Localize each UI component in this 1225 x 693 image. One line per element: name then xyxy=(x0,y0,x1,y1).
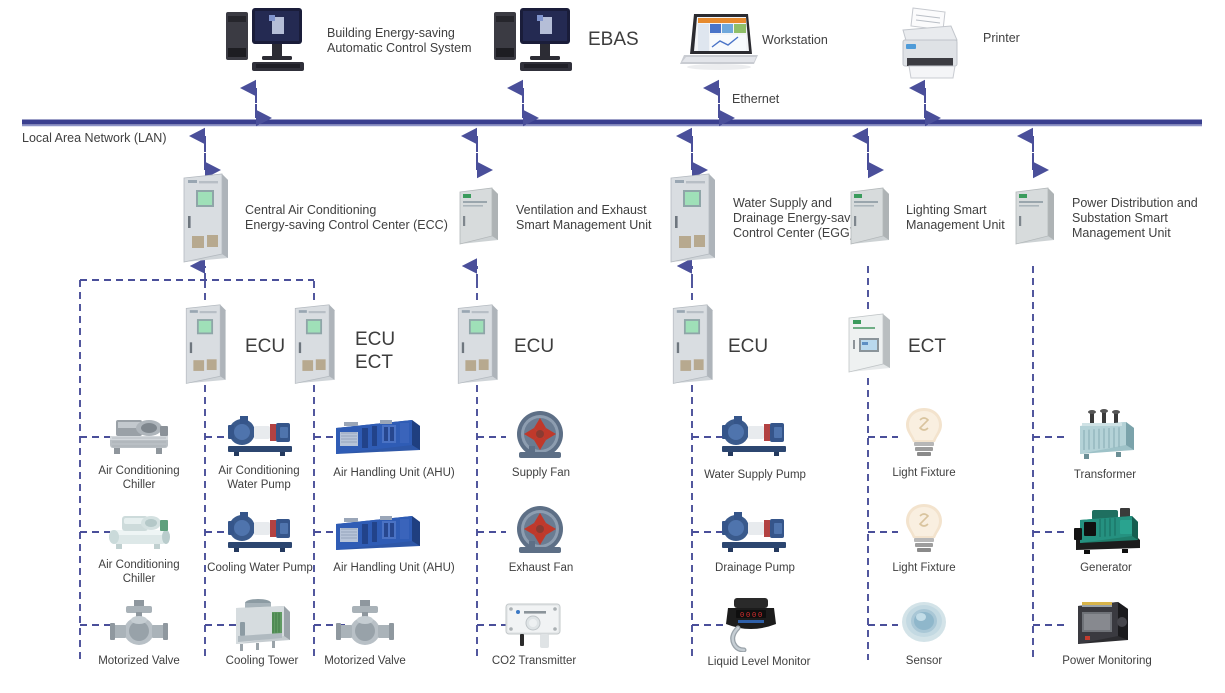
generator-label: Generator xyxy=(1052,561,1160,575)
light-fixture-2-label: Light Fixture xyxy=(876,561,972,575)
ecu-ventilation-label: ECU xyxy=(514,335,554,358)
pump-icon xyxy=(718,508,792,554)
air-handling-unit-1-label: Air Handling Unit (AHU) xyxy=(322,466,466,480)
co2-transmitter-icon xyxy=(500,600,566,650)
control-cabinet-icon xyxy=(178,303,232,387)
printer[interactable] xyxy=(893,6,965,82)
workstation-bas[interactable] xyxy=(222,4,308,84)
power-monitoring-label: Power Monitoring xyxy=(1040,654,1174,668)
svg-text:0: 0 xyxy=(740,612,744,620)
diagram-canvas: Building Energy-saving Automatic Control… xyxy=(0,0,1225,693)
valve-icon xyxy=(110,598,168,650)
chiller-icon xyxy=(104,412,174,458)
light-fixture-1-label: Light Fixture xyxy=(876,466,972,480)
sensor-icon xyxy=(900,598,948,646)
bulb-icon xyxy=(902,404,946,460)
liquid-level-monitor[interactable]: 0 0 0 0 xyxy=(718,596,784,652)
ect-lighting-panel[interactable] xyxy=(845,312,895,378)
cooling-water-pump[interactable] xyxy=(224,508,298,554)
workstation-laptop[interactable] xyxy=(678,10,762,72)
pump-icon xyxy=(224,508,298,554)
light-fixture-2[interactable] xyxy=(902,500,946,556)
svg-text:0: 0 xyxy=(746,612,750,620)
control-cabinet-icon xyxy=(665,172,719,266)
sensor[interactable] xyxy=(900,598,948,646)
cooling-tower[interactable] xyxy=(228,596,296,652)
ahu-icon xyxy=(332,414,424,458)
level-monitor-icon: 0 0 0 0 xyxy=(718,596,784,652)
desktop-computer-icon xyxy=(222,4,308,84)
water-supply-pump[interactable] xyxy=(718,412,792,458)
air-conditioning-chiller-2-label: Air Conditioning Chiller xyxy=(78,558,200,586)
air-conditioning-chiller-1[interactable] xyxy=(104,412,174,458)
printer-icon xyxy=(893,6,965,82)
motorized-valve-1-label: Motorized Valve xyxy=(80,654,198,668)
lighting-panel-icon xyxy=(845,312,895,378)
ecu-water-cabinet[interactable] xyxy=(665,303,719,387)
ethernet-label: Ethernet xyxy=(732,92,779,107)
air-handling-unit-1[interactable] xyxy=(332,414,424,458)
motorized-valve-2[interactable] xyxy=(336,598,394,650)
power-unit-box[interactable] xyxy=(1012,186,1058,248)
ecc-cabinet[interactable] xyxy=(178,172,232,266)
lan-label: Local Area Network (LAN) xyxy=(22,131,167,146)
liquid-level-monitor-label: Liquid Level Monitor xyxy=(688,655,830,669)
laptop-icon xyxy=(678,10,762,72)
generator-icon xyxy=(1070,504,1144,554)
motorized-valve-1[interactable] xyxy=(110,598,168,650)
lighting-unit-box[interactable] xyxy=(847,186,893,248)
svg-text:0: 0 xyxy=(752,612,756,620)
fan-icon xyxy=(509,503,571,559)
air-handling-unit-2-label: Air Handling Unit (AHU) xyxy=(322,561,466,575)
ecu-chiller-cabinet[interactable] xyxy=(178,303,232,387)
ventilation-unit-label: Ventilation and Exhaust Smart Management… xyxy=(516,203,686,233)
wall-box-icon xyxy=(1012,186,1058,248)
drainage-pump[interactable] xyxy=(718,508,792,554)
co2-transmitter-label: CO2 Transmitter xyxy=(472,654,596,668)
cooling-tower-icon xyxy=(228,596,296,652)
desktop-computer-icon xyxy=(490,4,576,84)
power-meter-icon xyxy=(1072,596,1134,652)
workstation-ebas[interactable] xyxy=(490,4,576,84)
air-conditioning-water-pump-label: Air Conditioning Water Pump xyxy=(198,464,320,492)
air-handling-unit-2[interactable] xyxy=(332,510,424,554)
power-monitoring[interactable] xyxy=(1072,596,1134,652)
control-cabinet-icon xyxy=(450,303,504,387)
control-cabinet-icon xyxy=(178,172,232,266)
generator[interactable] xyxy=(1070,504,1144,554)
bulb-icon xyxy=(902,500,946,556)
pump-icon xyxy=(224,412,298,458)
pump-icon xyxy=(718,412,792,458)
fan-icon xyxy=(509,408,571,464)
sensor-label: Sensor xyxy=(878,654,970,668)
transformer-label: Transformer xyxy=(1050,468,1160,482)
egg-cabinet[interactable] xyxy=(665,172,719,266)
transformer[interactable] xyxy=(1070,408,1142,460)
exhaust-fan[interactable] xyxy=(509,503,571,559)
air-conditioning-chiller-1-label: Air Conditioning Chiller xyxy=(78,464,200,492)
ect-lighting-label: ECT xyxy=(908,335,946,358)
supply-fan[interactable] xyxy=(509,408,571,464)
exhaust-fan-label: Exhaust Fan xyxy=(490,561,592,575)
ecu-ect-ahu-cabinet[interactable] xyxy=(287,303,341,387)
wall-box-icon xyxy=(847,186,893,248)
power-unit-label: Power Distribution and Substation Smart … xyxy=(1072,196,1225,241)
air-conditioning-chiller-2[interactable] xyxy=(104,508,174,554)
light-fixture-1[interactable] xyxy=(902,404,946,460)
control-cabinet-icon xyxy=(665,303,719,387)
chiller-light-icon xyxy=(104,508,174,554)
control-cabinet-icon xyxy=(287,303,341,387)
wall-box-icon xyxy=(456,186,502,248)
ecu-chiller-label: ECU xyxy=(245,335,285,358)
ecu-ect-ahu-label: ECU ECT xyxy=(355,328,395,374)
water-supply-pump-label: Water Supply Pump xyxy=(690,468,820,482)
ventilation-unit-box[interactable] xyxy=(456,186,502,248)
ecu-water-label: ECU xyxy=(728,335,768,358)
motorized-valve-2-label: Motorized Valve xyxy=(306,654,424,668)
workstation-laptop-label: Workstation xyxy=(762,33,828,48)
workstation-ebas-label: EBAS xyxy=(588,28,639,51)
valve-icon xyxy=(336,598,394,650)
transformer-icon xyxy=(1070,408,1142,460)
cooling-water-pump-label: Cooling Water Pump xyxy=(196,561,324,575)
ecu-ventilation-cabinet[interactable] xyxy=(450,303,504,387)
printer-label: Printer xyxy=(983,31,1020,46)
ahu-icon xyxy=(332,510,424,554)
supply-fan-label: Supply Fan xyxy=(492,466,590,480)
co2-transmitter[interactable] xyxy=(500,600,566,650)
svg-text:0: 0 xyxy=(758,612,762,620)
air-conditioning-water-pump[interactable] xyxy=(224,412,298,458)
drainage-pump-label: Drainage Pump xyxy=(694,561,816,575)
